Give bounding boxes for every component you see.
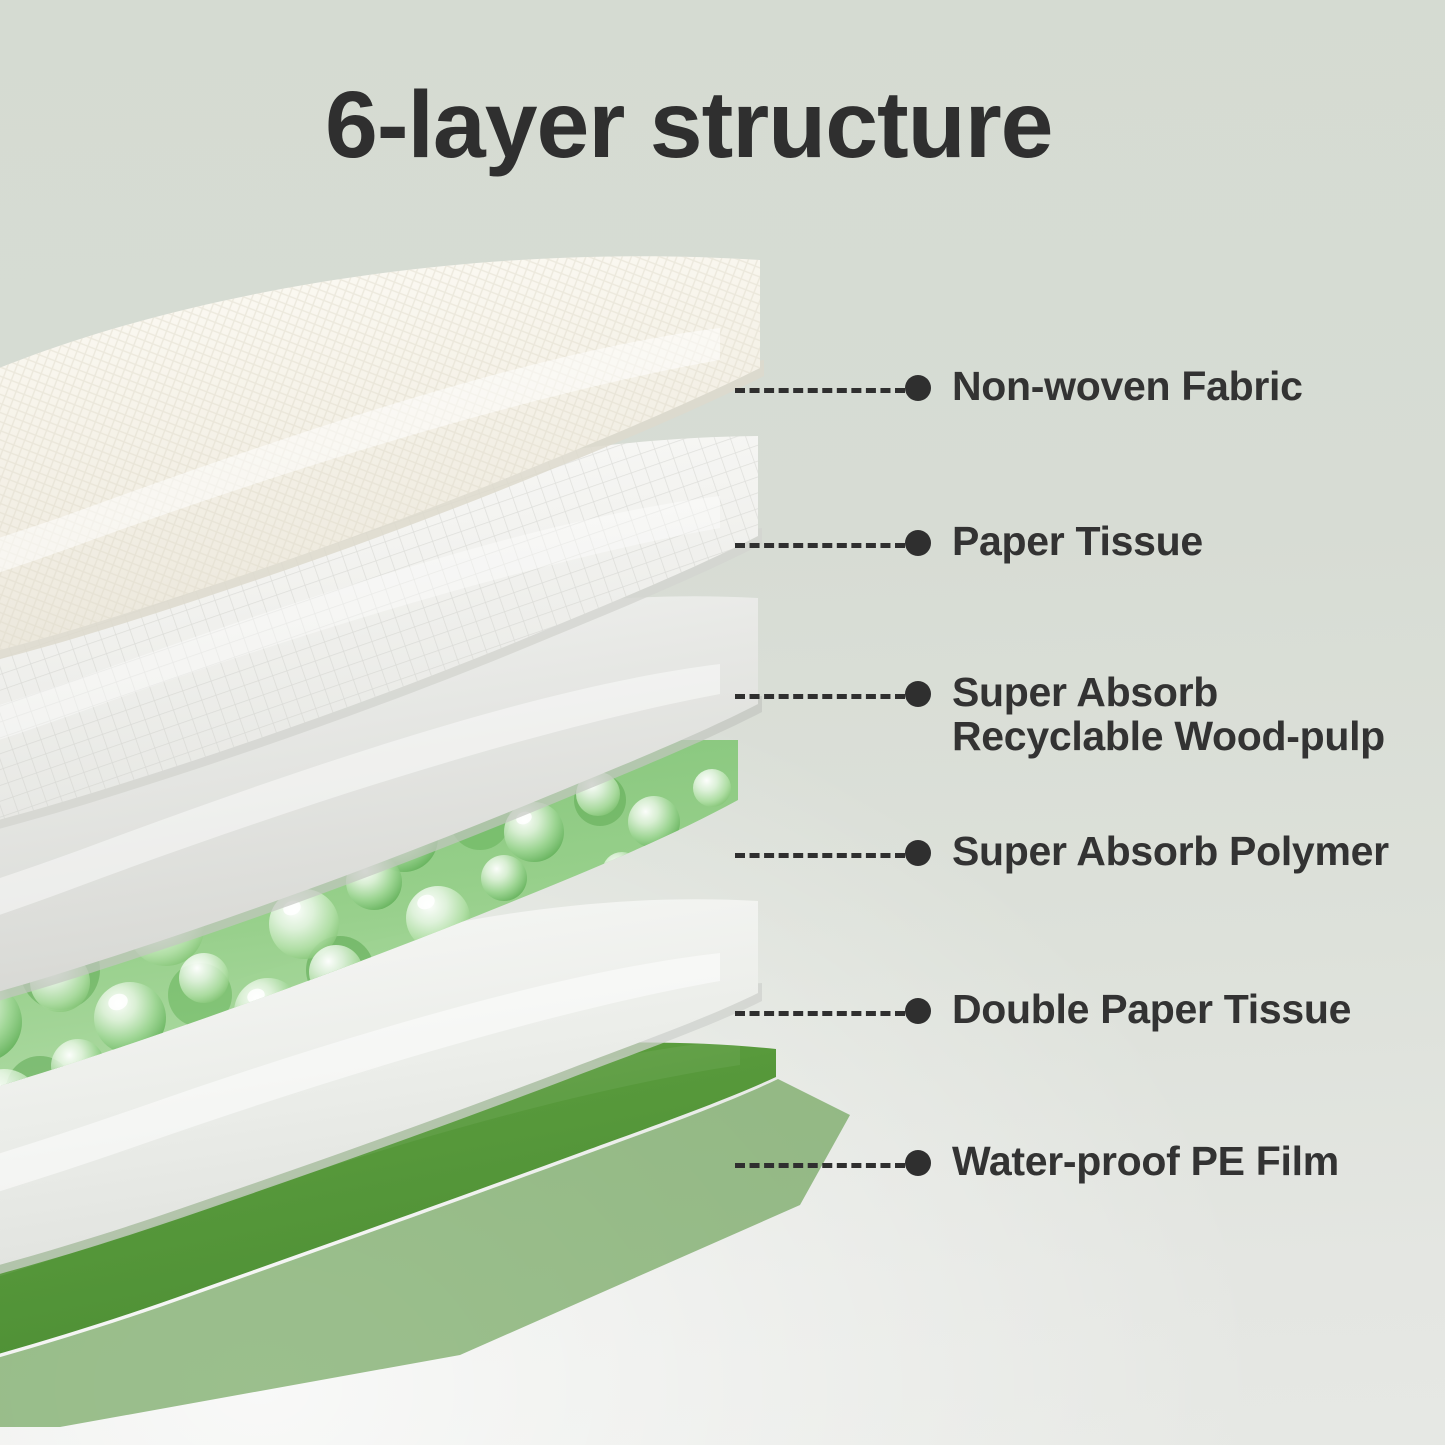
leader-line-paper-tissue: [735, 543, 905, 548]
layer-label-recyclable-wood-pulp-line2: Recyclable Wood-pulp: [952, 714, 1385, 758]
infographic-canvas: 6-layer structure: [0, 0, 1445, 1445]
leader-line-non-woven-fabric: [735, 388, 905, 393]
layer-label-non-woven-fabric: Non-woven Fabric: [952, 364, 1303, 408]
leader-dot-recyclable-wood-pulp: [905, 681, 931, 707]
layer-label-paper-tissue: Paper Tissue: [952, 519, 1203, 563]
layer-label-super-absorb-polymer: Super Absorb Polymer: [952, 829, 1389, 873]
leader-dot-water-proof-pe-film: [905, 1150, 931, 1176]
leader-line-recyclable-wood-pulp: [735, 694, 905, 699]
leader-line-double-paper-tissue: [735, 1011, 905, 1016]
leader-dot-double-paper-tissue: [905, 998, 931, 1024]
leader-dot-non-woven-fabric: [905, 375, 931, 401]
layer-label-double-paper-tissue: Double Paper Tissue: [952, 987, 1351, 1031]
leader-line-super-absorb-polymer: [735, 853, 905, 858]
layer-shape-non-woven-fabric: [0, 268, 820, 608]
leader-line-water-proof-pe-film: [735, 1163, 905, 1168]
layer-label-water-proof-pe-film: Water-proof PE Film: [952, 1139, 1339, 1183]
layer-label-recyclable-wood-pulp-line1: Super Absorb: [952, 670, 1218, 714]
leader-dot-super-absorb-polymer: [905, 840, 931, 866]
layer-stack-illustration: [0, 0, 820, 1445]
leader-dot-paper-tissue: [905, 530, 931, 556]
